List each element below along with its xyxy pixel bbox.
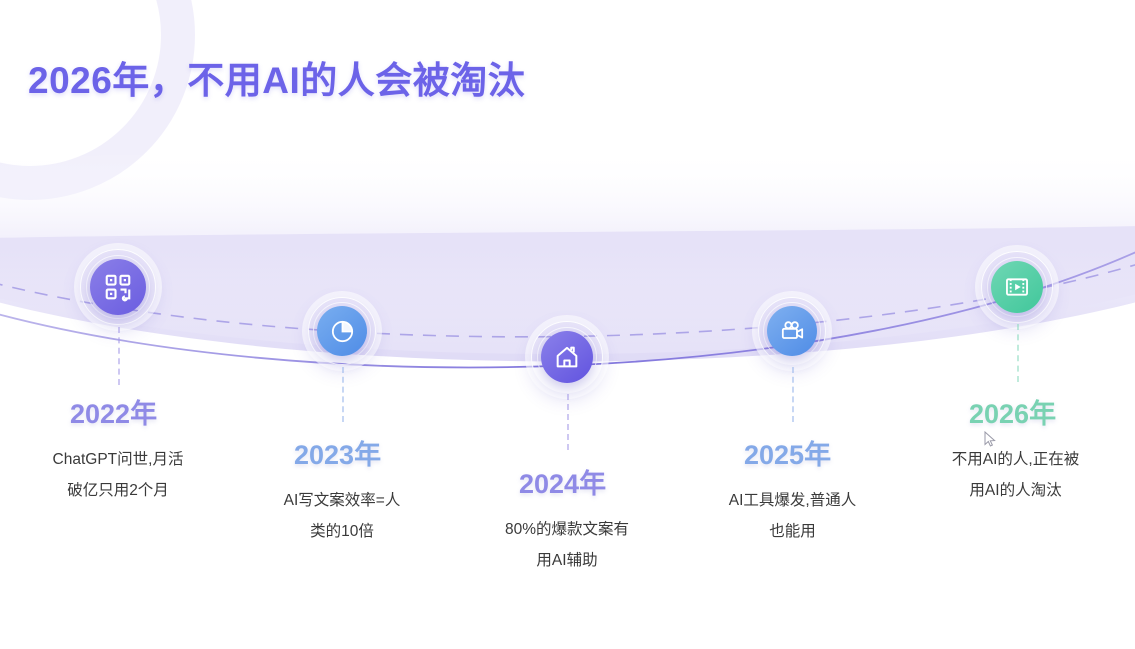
node-desc-line1: AI工具爆发,普通人: [690, 485, 895, 516]
node-stem-2025: [792, 367, 794, 422]
node-desc-line1: 80%的爆款文案有: [467, 514, 667, 545]
node-desc-line2: 破亿只用2个月: [18, 475, 218, 506]
node-desc-2025: AI工具爆发,普通人 也能用: [690, 485, 895, 547]
mouse-cursor-icon: [984, 431, 998, 449]
node-desc-2022: ChatGPT问世,月活 破亿只用2个月: [18, 444, 218, 506]
node-desc-line1: 不用AI的人,正在被: [913, 444, 1118, 475]
node-desc-line1: AI写文案效率=人: [242, 485, 442, 516]
video-camera-icon: [779, 318, 806, 345]
node-desc-line2: 类的10倍: [242, 516, 442, 547]
node-desc-line2: 也能用: [690, 516, 895, 547]
node-desc-2026: 不用AI的人,正在被 用AI的人淘汰: [913, 444, 1118, 506]
pie-chart-icon: [329, 318, 356, 345]
home-icon: [553, 343, 581, 371]
node-icon-disc[interactable]: [317, 306, 367, 356]
node-year-2024: 2024年: [519, 462, 606, 501]
slide-canvas: 2026年，不用AI的人会被淘汰: [0, 0, 1135, 649]
film-play-icon: [1003, 273, 1031, 301]
node-stem-2026: [1017, 324, 1019, 382]
node-stem-2022: [118, 327, 120, 385]
node-icon-disc[interactable]: [767, 306, 817, 356]
node-stem-2024: [567, 394, 569, 450]
node-year-2025: 2025年: [744, 433, 831, 472]
node-year-2023: 2023年: [294, 433, 381, 472]
node-year-2026: 2026年: [969, 392, 1056, 431]
node-icon-disc[interactable]: [991, 261, 1043, 313]
node-desc-2023: AI写文案效率=人 类的10倍: [242, 485, 442, 547]
node-icon-disc[interactable]: [541, 331, 593, 383]
node-desc-line2: 用AI辅助: [467, 545, 667, 576]
node-year-2022: 2022年: [70, 392, 157, 431]
node-desc-2024: 80%的爆款文案有 用AI辅助: [467, 514, 667, 576]
node-stem-2023: [342, 367, 344, 422]
qr-code-icon: [103, 272, 133, 302]
node-desc-line2: 用AI的人淘汰: [913, 475, 1118, 506]
node-desc-line1: ChatGPT问世,月活: [18, 444, 218, 475]
node-icon-disc[interactable]: [90, 259, 146, 315]
